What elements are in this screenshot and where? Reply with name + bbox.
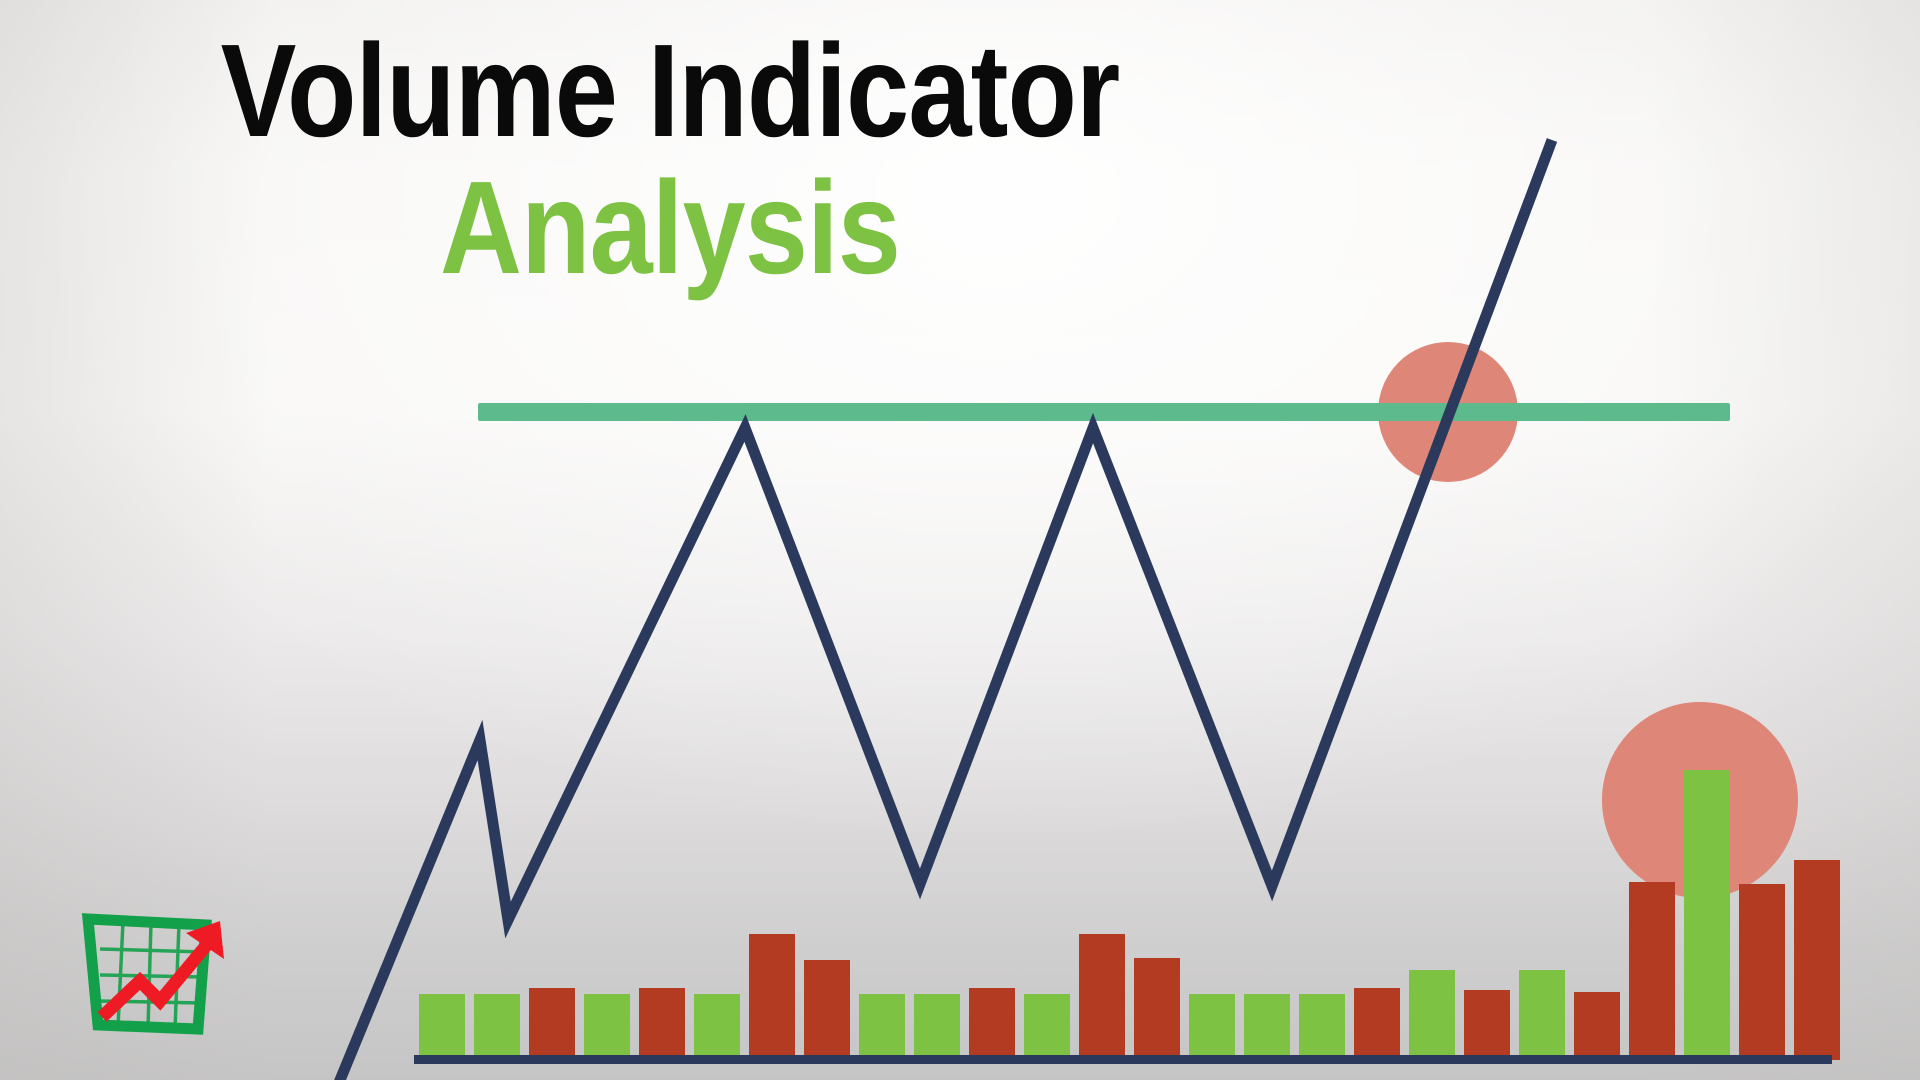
volume-bar (1629, 882, 1675, 1060)
slide-canvas: Volume Indicator Analysis (0, 0, 1920, 1080)
volume-bar (1684, 770, 1730, 1060)
volume-bar (1354, 988, 1400, 1060)
volume-bar (969, 988, 1015, 1060)
volume-bar (1299, 994, 1345, 1060)
volume-bar (749, 934, 795, 1060)
volume-bar (804, 960, 850, 1060)
volume-bar (1189, 994, 1235, 1060)
volume-bar (694, 994, 740, 1060)
resistance-line (478, 403, 1730, 421)
title-line-secondary: Analysis (94, 167, 1246, 288)
volume-bar (474, 994, 520, 1060)
volume-bar (1464, 990, 1510, 1060)
volume-bar (584, 994, 630, 1060)
volume-bar (1079, 934, 1125, 1060)
volume-bar (1024, 994, 1070, 1060)
volume-bar (639, 988, 685, 1060)
volume-bar (914, 994, 960, 1060)
volume-bar (1244, 994, 1290, 1060)
volume-bar (1574, 992, 1620, 1060)
volume-bar (1134, 958, 1180, 1060)
volume-bar (859, 994, 905, 1060)
title-line-primary: Volume Indicator (94, 30, 1246, 151)
volume-bar (1409, 970, 1455, 1060)
page-title: Volume Indicator Analysis (0, 30, 1340, 289)
volume-bar (1739, 884, 1785, 1060)
volume-bar (419, 994, 465, 1060)
volume-bar (1519, 970, 1565, 1060)
chart-baseline-axis (414, 1055, 1832, 1064)
volume-bar (1794, 860, 1840, 1060)
volume-bar (529, 988, 575, 1060)
stock-chart-arrow-icon[interactable] (78, 905, 238, 1055)
